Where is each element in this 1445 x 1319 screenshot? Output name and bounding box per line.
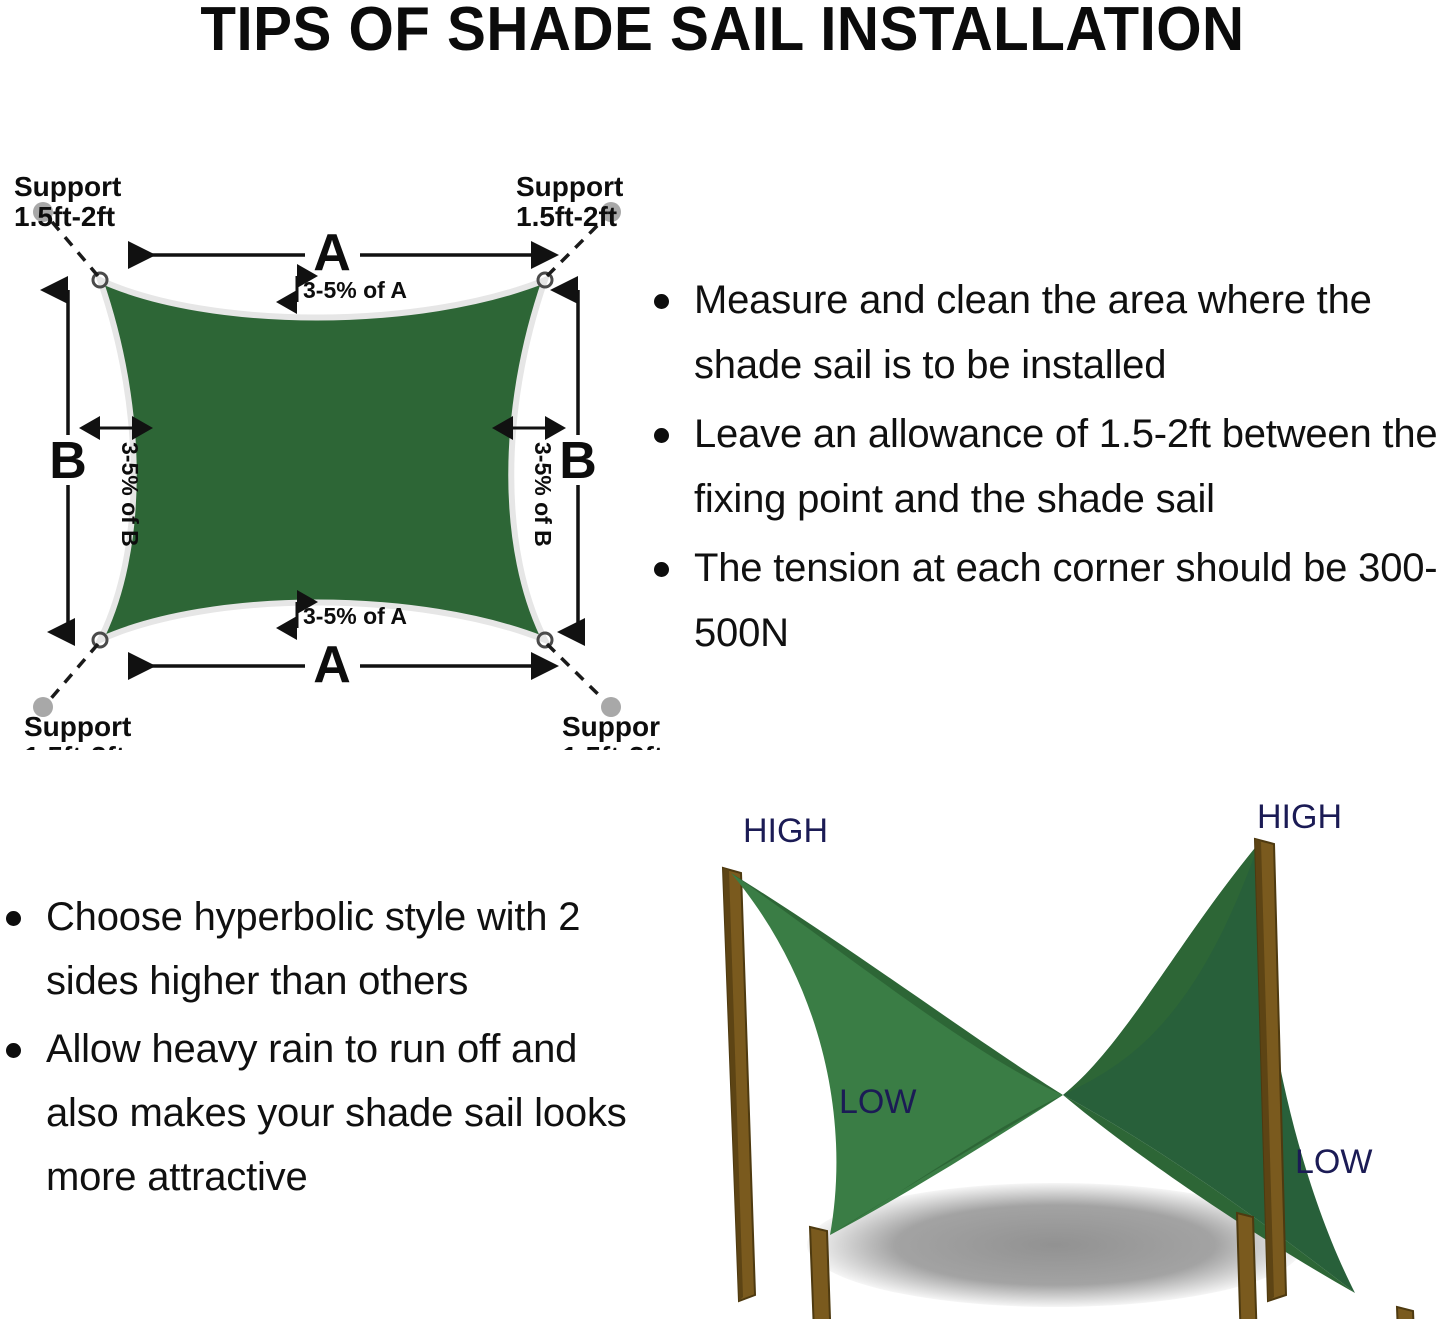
list-item: Leave an allowance of 1.5-2ft between th… — [648, 402, 1445, 532]
support-label-top-left-line1: Support — [14, 171, 121, 202]
support-label-bottom-right-line1: Support — [562, 711, 660, 742]
bullet-dot-icon — [654, 562, 669, 577]
page-title: TIPS OF SHADE SAIL INSTALLATION — [43, 0, 1401, 65]
label-low-left: LOW — [839, 1083, 916, 1121]
bullet-dot-icon — [654, 428, 669, 443]
list-item: Choose hyperbolic style with 2 sides hig… — [0, 885, 630, 1013]
list-item-text: Allow heavy rain to run off and also mak… — [46, 1027, 627, 1199]
support-label-bottom-right-line2: 1.5ft-2ft — [562, 741, 660, 750]
label-high-left: HIGH — [743, 812, 828, 850]
sag-label-left: 3-5% of B — [117, 442, 143, 547]
list-item-text: Measure and clean the area where the sha… — [694, 278, 1372, 387]
list-item-text: Choose hyperbolic style with 2 sides hig… — [46, 895, 580, 1003]
list-item: Allow heavy rain to run off and also mak… — [0, 1017, 630, 1209]
support-label-top-right-line2: 1.5ft-2ft — [516, 201, 617, 232]
sag-label-bottom: 3-5% of A — [303, 603, 407, 629]
support-line-bottom-left — [47, 644, 98, 703]
label-high-right: HIGH — [1257, 798, 1342, 836]
hyperbolic-tips-list: Choose hyperbolic style with 2 sides hig… — [0, 885, 630, 1209]
support-label-top-right-line1: Support — [516, 171, 623, 202]
bullet-dot-icon — [654, 294, 669, 309]
bullet-dot-icon — [6, 911, 21, 926]
shade-sail-shape — [100, 280, 545, 640]
support-label-top-left-line2: 1.5ft-2ft — [14, 201, 115, 232]
sag-label-right: 3-5% of B — [530, 442, 556, 547]
sail-panel-front — [731, 873, 1063, 1235]
installation-tips-list: Measure and clean the area where the sha… — [648, 268, 1445, 666]
hyperbolic-sail-diagram: HIGH HIGH LOW LOW — [655, 795, 1445, 1319]
dim-label-left-b: B — [49, 432, 87, 490]
dim-label-top-a: A — [313, 224, 351, 282]
dim-label-bottom-a: A — [313, 636, 351, 694]
installation-tips-panel: Measure and clean the area where the sha… — [648, 268, 1445, 670]
rectangular-sail-diagram: A 3-5% of A A 3-5% of A B 3-5% of B B 3-… — [0, 150, 660, 740]
list-item: Measure and clean the area where the sha… — [648, 268, 1445, 398]
hyperbolic-tips-panel: Choose hyperbolic style with 2 sides hig… — [0, 885, 630, 1213]
label-low-right: LOW — [1295, 1143, 1372, 1181]
bullet-dot-icon — [6, 1043, 21, 1058]
support-label-bottom-left-line1: Support — [24, 711, 131, 742]
list-item-text: The tension at each corner should be 300… — [694, 546, 1437, 655]
post-low-right — [1397, 1307, 1417, 1319]
sag-label-top: 3-5% of A — [303, 277, 407, 303]
list-item-text: Leave an allowance of 1.5-2ft between th… — [694, 412, 1437, 521]
list-item: The tension at each corner should be 300… — [648, 536, 1445, 666]
support-line-bottom-right — [547, 644, 607, 703]
dim-label-right-b: B — [559, 432, 597, 490]
support-label-bottom-left-line2: 1.5ft-2ft — [24, 741, 125, 750]
